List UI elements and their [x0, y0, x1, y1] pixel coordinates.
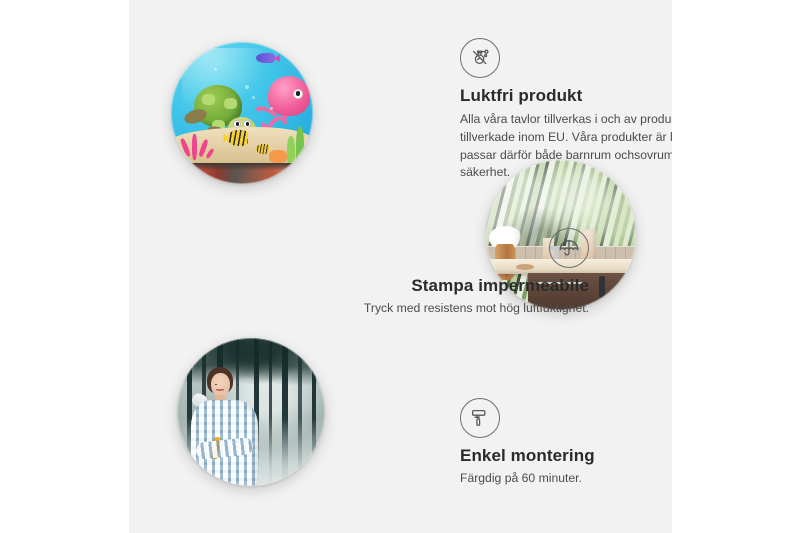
- feature-description: Tryck med resistens mot hög luftfuktighe…: [289, 300, 589, 318]
- feature-waterproof: Stampa impermeabile Tryck med resistens …: [289, 228, 589, 318]
- no-odour-spray-bottle-icon: [460, 38, 500, 78]
- image-forest-wallpaper-painter: [177, 338, 325, 486]
- seaweed: [287, 136, 294, 163]
- aquarium-artwork: [171, 42, 313, 184]
- painter-woman: [186, 365, 272, 486]
- starfish: [269, 150, 287, 163]
- bubble: [245, 85, 249, 89]
- page-root: Luktfri produkt Alla våra tavlor tillver…: [0, 0, 800, 533]
- room-strip: [171, 163, 313, 184]
- feature-title: Enkel montering: [460, 445, 672, 466]
- purple-fish: [256, 53, 274, 63]
- feature-odour-free: Luktfri produkt Alla våra tavlor tillver…: [460, 38, 672, 182]
- octopus-head: [268, 76, 311, 116]
- bubble: [252, 96, 255, 99]
- forest-artwork: [177, 338, 325, 486]
- feature-description: Alla våra tavlor tillverkas i och av pro…: [460, 111, 672, 182]
- feature-title: Stampa impermeabile: [289, 275, 589, 296]
- face: [211, 373, 230, 397]
- small-yellow-fish: [256, 144, 269, 154]
- yellow-striped-fish: [228, 130, 248, 146]
- octopus-eye: [293, 89, 303, 99]
- content-panel: Luktfri produkt Alla våra tavlor tillver…: [129, 0, 672, 533]
- feature-description: Färgdig på 60 minuter.: [460, 470, 672, 488]
- pink-coral: [177, 123, 220, 160]
- paint-roller-icon: [460, 398, 500, 438]
- feature-title: Luktfri produkt: [460, 85, 672, 106]
- image-underwater-kids-scene: [171, 42, 313, 184]
- umbrella-icon: [549, 228, 589, 268]
- feature-easy-mounting: Enkel montering Färgdig på 60 minuter.: [460, 398, 672, 488]
- bubble: [214, 68, 217, 71]
